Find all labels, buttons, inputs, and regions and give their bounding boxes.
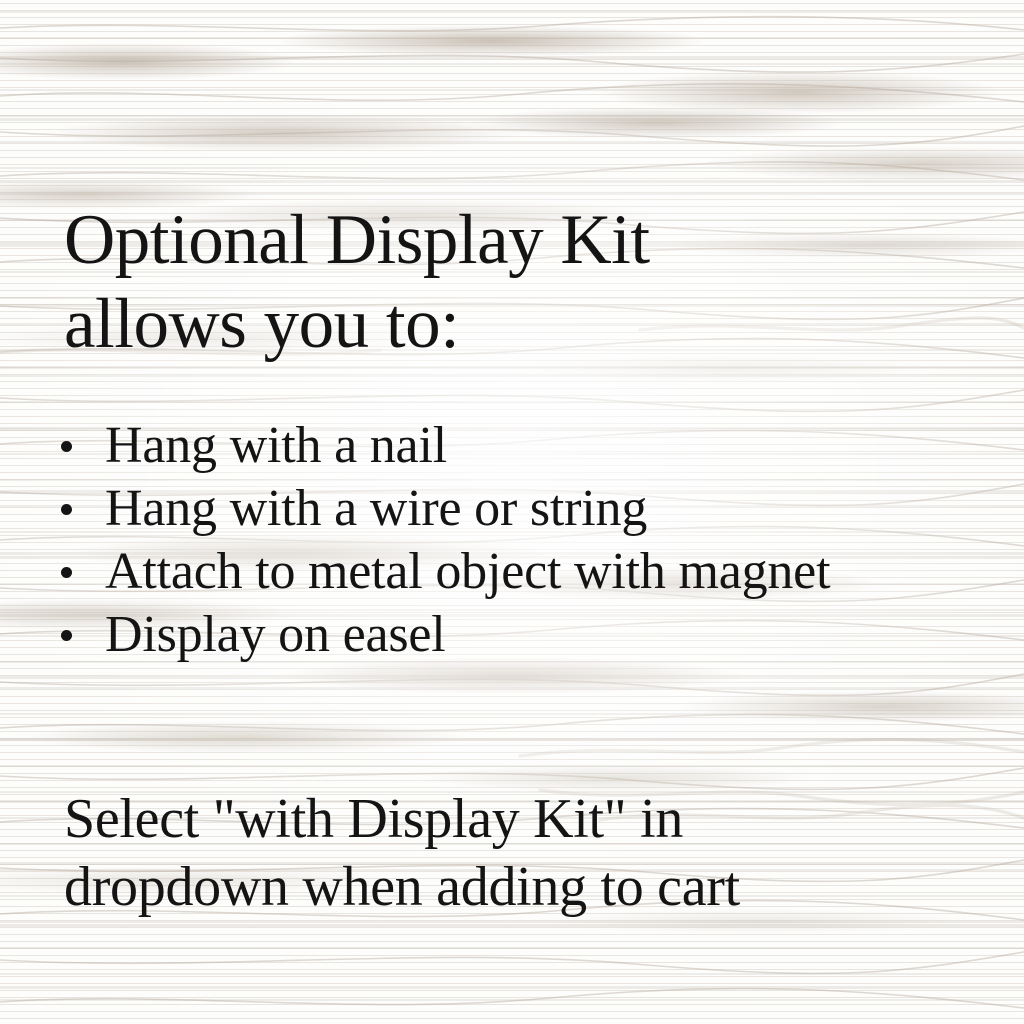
list-item: Hang with a wire or string xyxy=(58,477,978,540)
list-item-label: Display on easel xyxy=(105,606,446,663)
list-item-label: Hang with a wire or string xyxy=(105,480,647,537)
list-item: Display on easel xyxy=(58,603,978,666)
card-content: Optional Display Kit allows you to: Hang… xyxy=(0,0,1024,1024)
list-item-label: Attach to metal object with magnet xyxy=(105,543,830,600)
bullet-dot-icon xyxy=(61,441,72,452)
product-info-card: Optional Display Kit allows you to: Hang… xyxy=(0,0,1024,1024)
headline: Optional Display Kit allows you to: xyxy=(64,198,924,366)
list-item-label: Hang with a nail xyxy=(105,417,447,474)
bullet-dot-icon xyxy=(61,630,72,641)
closing-instruction: Select "with Display Kit" in dropdown wh… xyxy=(64,785,964,921)
feature-list: Hang with a nail Hang with a wire or str… xyxy=(58,414,978,666)
list-item: Hang with a nail xyxy=(58,414,978,477)
bullet-dot-icon xyxy=(61,504,72,515)
bullet-dot-icon xyxy=(61,567,72,578)
list-item: Attach to metal object with magnet xyxy=(58,540,978,603)
